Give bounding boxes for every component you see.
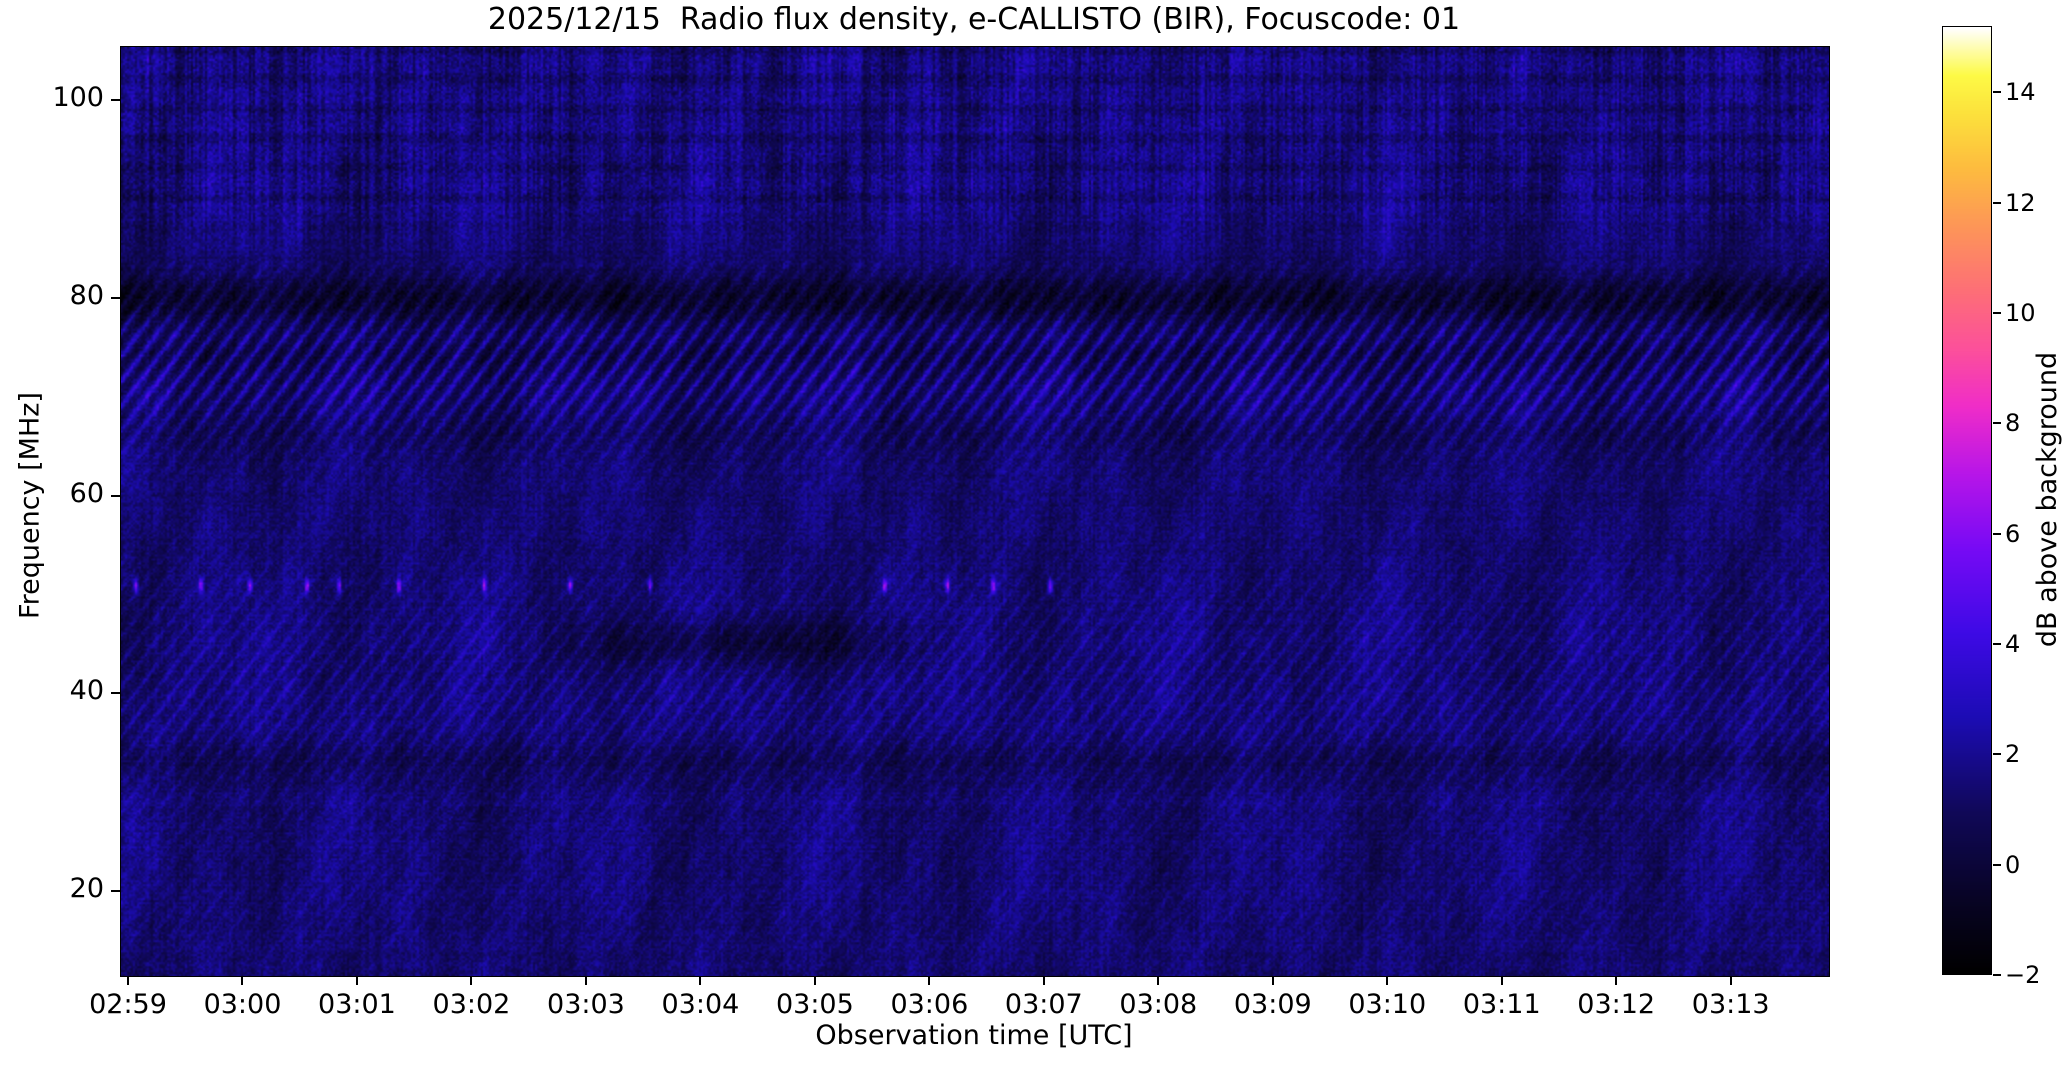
x-tick-mark [1386, 976, 1388, 985]
x-tick-label: 02:59 [89, 989, 167, 1020]
x-tick-mark [1615, 976, 1617, 985]
colorbar-tick-label: 10 [2005, 299, 2036, 327]
colorbar-tick-label: 12 [2005, 189, 2036, 217]
y-tick-label: 20 [70, 873, 104, 904]
x-tick-label: 03:08 [1119, 989, 1197, 1020]
colorbar-tick-mark [1993, 753, 2001, 755]
colorbar-tick-label: 2 [2005, 740, 2020, 768]
colorbar-gradient [1942, 26, 1992, 975]
x-tick-label: 03:01 [318, 989, 396, 1020]
x-tick-mark [470, 976, 472, 985]
x-tick-mark [928, 976, 930, 985]
y-tick-mark [111, 692, 120, 694]
colorbar-tick-mark [1993, 202, 2001, 204]
x-tick-label: 03:12 [1577, 989, 1655, 1020]
y-tick-mark [111, 890, 120, 892]
colorbar-tick-label: 4 [2005, 630, 2020, 658]
x-tick-mark [127, 976, 129, 985]
x-tick-mark [1157, 976, 1159, 985]
colorbar-tick-mark [1993, 312, 2001, 314]
y-tick-mark [111, 297, 120, 299]
x-tick-mark [1272, 976, 1274, 985]
colorbar-tick-mark [1993, 974, 2001, 976]
colorbar-tick-label: 6 [2005, 520, 2020, 548]
x-tick-label: 03:07 [1005, 989, 1083, 1020]
y-axis-label: Frequency [MHz] [15, 36, 46, 976]
x-tick-label: 03:02 [433, 989, 511, 1020]
x-axis-label: Observation time [UTC] [120, 1020, 1828, 1051]
x-tick-label: 03:10 [1348, 989, 1426, 1020]
colorbar-tick-mark [1993, 91, 2001, 93]
x-tick-mark [1501, 976, 1503, 985]
x-tick-mark [699, 976, 701, 985]
y-tick-mark [111, 99, 120, 101]
x-tick-label: 03:04 [661, 989, 739, 1020]
colorbar-label: dB above background [2032, 25, 2063, 974]
x-tick-mark [1730, 976, 1732, 985]
colorbar-tick-mark [1993, 533, 2001, 535]
y-tick-label: 40 [70, 675, 104, 706]
x-tick-mark [1043, 976, 1045, 985]
x-tick-mark [356, 976, 358, 985]
colorbar-tick-label: 14 [2005, 78, 2036, 106]
x-tick-label: 03:05 [776, 989, 854, 1020]
colorbar-tick-label: 8 [2005, 409, 2020, 437]
x-tick-mark [241, 976, 243, 985]
x-tick-mark [585, 976, 587, 985]
page-title: 2025/12/15 Radio flux density, e-CALLIST… [120, 2, 1828, 38]
x-tick-label: 03:06 [890, 989, 968, 1020]
y-tick-mark [111, 495, 120, 497]
colorbar[interactable] [1942, 26, 1992, 975]
x-tick-label: 03:09 [1234, 989, 1312, 1020]
colorbar-tick-mark [1993, 643, 2001, 645]
x-tick-label: 03:11 [1463, 989, 1541, 1020]
x-tick-label: 03:13 [1692, 989, 1770, 1020]
spectrogram-plot-area[interactable] [120, 46, 1830, 977]
y-tick-label: 80 [70, 280, 104, 311]
colorbar-tick-mark [1993, 864, 2001, 866]
colorbar-tick-label: 0 [2005, 851, 2020, 879]
x-tick-mark [814, 976, 816, 985]
spectrogram-image [121, 47, 1829, 976]
spectrogram-figure: 2025/12/15 Radio flux density, e-CALLIST… [0, 0, 2066, 1067]
y-tick-label: 100 [52, 82, 104, 113]
x-tick-label: 03:00 [204, 989, 282, 1020]
x-tick-label: 03:03 [547, 989, 625, 1020]
colorbar-tick-mark [1993, 422, 2001, 424]
y-tick-label: 60 [70, 478, 104, 509]
